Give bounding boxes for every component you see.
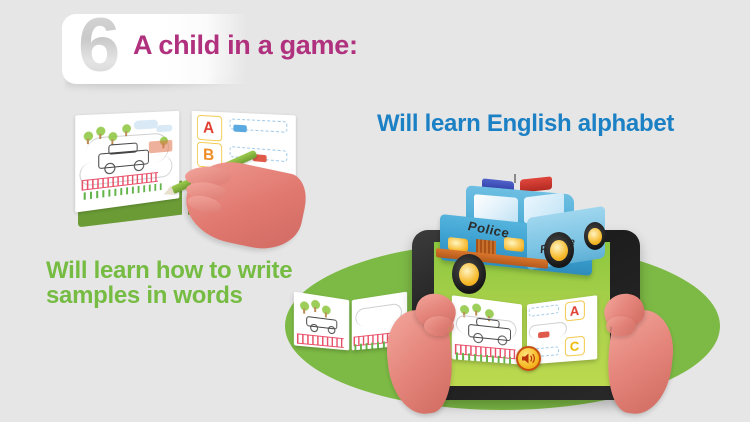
antenna-icon [514,174,516,183]
wheel-sketch [310,324,318,333]
book-drawing-scene [75,111,179,213]
wheel-hub [550,240,568,261]
finger [424,316,454,336]
speaker-icon [521,352,536,365]
finger [606,316,636,336]
dashed-line [529,304,559,317]
caption-writing: Will learn how to write samples in words [46,258,326,308]
slide-canvas: 6 A child in a game: [0,0,750,422]
cloud-sketch [134,120,158,130]
wheel-rear [584,222,606,250]
mini-car-icon [233,125,246,133]
step-number: 6 [78,8,118,84]
speaker-button[interactable] [516,346,541,371]
tree-sketch [96,126,105,136]
mini-car-icon [538,331,549,338]
right-hand [600,292,672,422]
letter-c: C [570,339,579,353]
letter-a: A [203,119,214,136]
wheel-hub [588,228,602,245]
caption-writing-line1: Will learn how to write [46,258,326,283]
cloud-sketch [156,125,172,133]
wheel-front-left [452,254,486,294]
tree-sketch [122,124,131,134]
page-title: A child in a game: [133,30,358,61]
caption-writing-line2: samples in words [46,283,326,308]
tree-sketch [472,303,481,313]
letter-a: A [570,304,579,318]
book-page-left [75,111,179,213]
letter-b: B [203,146,214,163]
ar-book-scene-left [452,295,522,364]
wheel-front-right [544,232,574,268]
wheel-sketch [473,332,483,343]
tree-sketch [460,304,469,314]
ar-police-car: Police Police [432,178,618,296]
fence-sketch [297,333,344,348]
wheel-sketch [498,335,507,346]
house-sketch [149,140,172,154]
caption-alphabet: Will learn English alphabet [377,110,674,138]
wheel-hub [459,263,479,286]
wheel-sketch [328,326,336,335]
left-hand [388,292,460,422]
ar-book-page-left [452,295,522,364]
